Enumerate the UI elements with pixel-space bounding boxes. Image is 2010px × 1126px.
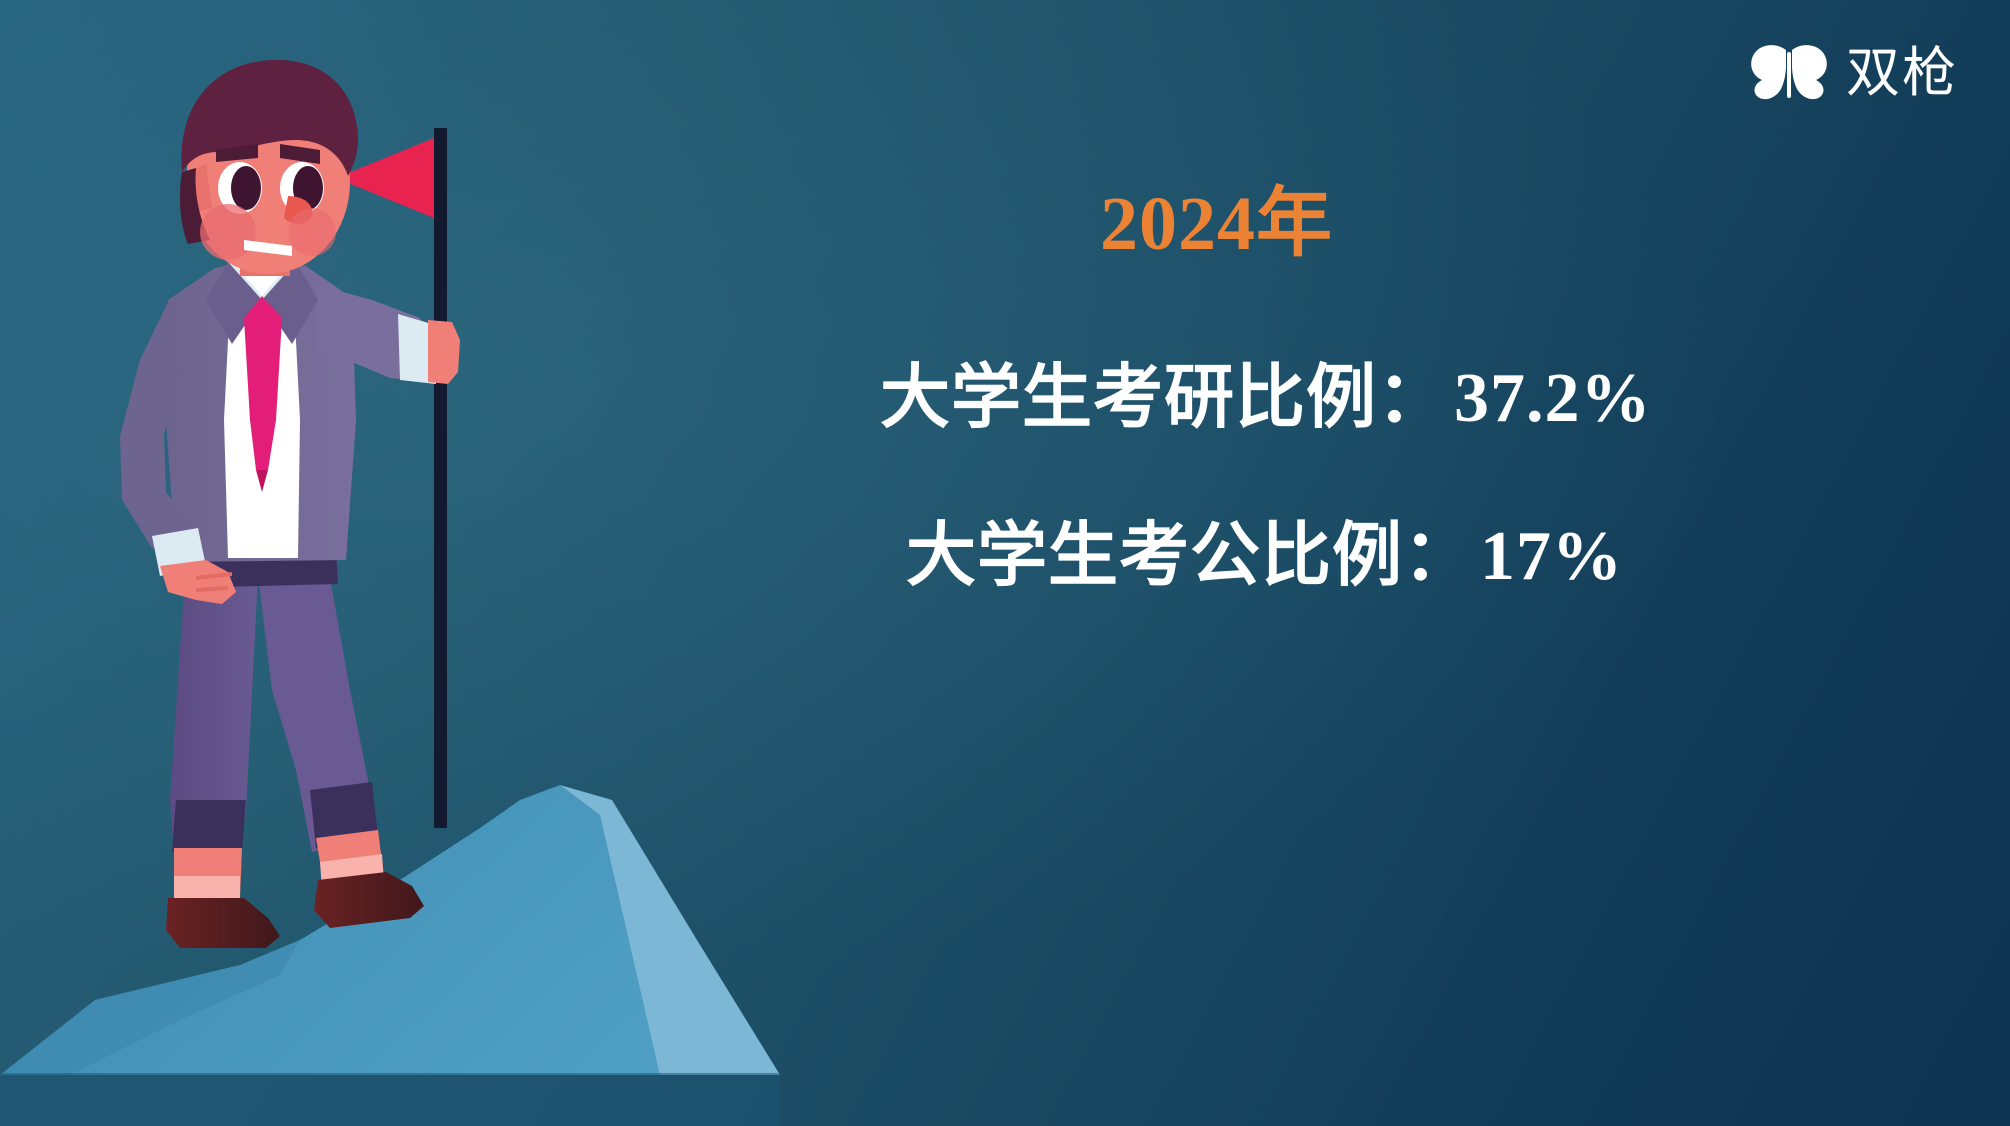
flag-pole bbox=[434, 128, 447, 828]
stat-value-kaoyan: 37.2% bbox=[1454, 360, 1652, 437]
stat-row-kaogong: 大学生考公比例：17% bbox=[906, 522, 1940, 592]
poster-canvas: 2024年 大学生考研比例：37.2% 大学生考公比例：17% 双枪 bbox=[0, 0, 2010, 1126]
stat-row-kaoyan: 大学生考研比例：37.2% bbox=[880, 364, 1940, 434]
mountain-icon bbox=[0, 785, 780, 1126]
hero-illustration bbox=[0, 0, 780, 1126]
butterfly-icon bbox=[1750, 44, 1828, 102]
stat-label-kaogong: 大学生考公比例： bbox=[906, 518, 1474, 595]
stat-label-kaoyan: 大学生考研比例： bbox=[880, 360, 1448, 437]
stat-value-kaogong: 17% bbox=[1480, 518, 1623, 595]
year-heading: 2024年 bbox=[1100, 186, 1940, 262]
content-text-block: 2024年 大学生考研比例：37.2% 大学生考公比例：17% bbox=[880, 186, 1940, 592]
brand-logo: 双枪 bbox=[1750, 44, 1958, 102]
brand-name: 双枪 bbox=[1846, 46, 1958, 100]
